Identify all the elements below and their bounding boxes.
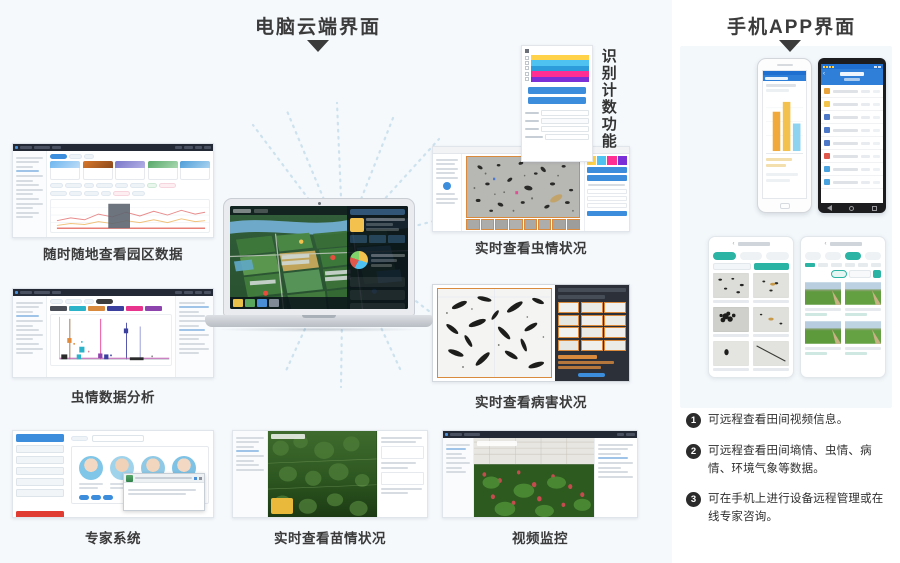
grid-item[interactable] xyxy=(753,273,789,303)
stats-button[interactable] xyxy=(587,175,627,181)
seedling-detail xyxy=(377,431,427,517)
count-input[interactable] xyxy=(545,134,589,140)
card-header: ‹ xyxy=(709,237,793,250)
list-item[interactable] xyxy=(821,150,883,163)
phone-mockup-white[interactable] xyxy=(757,58,812,213)
triangle-down-icon xyxy=(779,40,801,52)
chart-legend xyxy=(50,306,172,311)
statistics-chart-button[interactable] xyxy=(528,97,586,104)
screenshot-video-monitor[interactable] xyxy=(442,430,638,518)
dock-item[interactable] xyxy=(269,299,279,307)
back-chevron-icon[interactable]: ‹ xyxy=(824,241,826,247)
caption-pest-live: 实时查看虫情状况 xyxy=(432,237,630,257)
laptop-lid xyxy=(223,198,415,316)
list-item: 1 可远程查看田间视频信息。 xyxy=(686,412,894,430)
tab[interactable] xyxy=(805,263,815,267)
map-dock[interactable] xyxy=(230,297,347,309)
screenshot-park-data[interactable] xyxy=(12,143,214,238)
donut-chart xyxy=(350,251,368,269)
date-filter[interactable] xyxy=(713,263,751,270)
chat-avatar-icon xyxy=(126,475,133,482)
dashboard-sidebar[interactable] xyxy=(13,151,47,237)
expert-list xyxy=(67,431,213,517)
home-button[interactable] xyxy=(780,203,790,209)
list-item[interactable] xyxy=(821,176,883,189)
photo-badge xyxy=(271,498,293,514)
caption-seedling: 实时查看苗情状况 xyxy=(232,527,428,547)
android-navbar[interactable] xyxy=(818,203,886,213)
camera-list[interactable] xyxy=(594,438,637,517)
app-topbar xyxy=(13,289,213,296)
caption-video-monitor: 视频监控 xyxy=(442,527,638,547)
pest-thumbnail-strip[interactable] xyxy=(466,219,580,230)
date-picker[interactable] xyxy=(849,270,871,278)
grid-item[interactable] xyxy=(845,320,881,355)
list-item-text: 可远程查看田间视频信息。 xyxy=(708,412,848,430)
tab[interactable] xyxy=(818,263,828,267)
range-chip[interactable] xyxy=(831,270,847,278)
seedling-sidebar[interactable] xyxy=(233,431,268,517)
list-item: 3 可在手机上进行设备远程管理或在线专家咨询。 xyxy=(686,491,894,527)
back-chevron-icon[interactable]: ‹ xyxy=(823,71,825,77)
map-toolbar[interactable] xyxy=(230,206,347,215)
date-range-row[interactable] xyxy=(801,270,885,281)
grid-item[interactable] xyxy=(753,341,789,371)
back-chevron-icon[interactable]: ‹ xyxy=(732,241,734,247)
expert-menu-item[interactable] xyxy=(16,467,64,475)
close-icon[interactable] xyxy=(199,477,202,480)
list-item[interactable] xyxy=(821,98,883,111)
sensor-list[interactable] xyxy=(821,85,883,189)
recents-square-icon[interactable] xyxy=(872,206,877,211)
bar-chart xyxy=(766,96,803,154)
minimize-icon[interactable] xyxy=(194,477,197,480)
submit-button[interactable] xyxy=(587,211,627,216)
list-item-text: 可远程查看田间墒情、虫情、病情、环境气象等数据。 xyxy=(708,443,894,479)
expert-menu[interactable] xyxy=(13,431,67,517)
list-number-badge: 2 xyxy=(686,444,701,459)
app-title xyxy=(840,72,865,76)
chat-window[interactable] xyxy=(123,473,205,511)
dashboard-content xyxy=(47,151,213,237)
webcam-icon xyxy=(318,202,321,205)
dock-item[interactable] xyxy=(245,299,255,307)
list-item: 2 可远程查看田间墒情、虫情、病情、环境气象等数据。 xyxy=(686,443,894,479)
poster-root: 电脑云端界面 手机APP界面 xyxy=(0,0,900,563)
list-item[interactable] xyxy=(821,137,883,150)
screenshot-pest-analysis[interactable] xyxy=(12,288,214,378)
category-pills[interactable] xyxy=(801,250,885,263)
disease-confirm-button[interactable] xyxy=(578,373,605,377)
screenshot-disease-live[interactable] xyxy=(432,284,630,382)
screenshot-expert-system[interactable] xyxy=(12,430,214,518)
photo-label xyxy=(271,434,305,439)
date-input[interactable] xyxy=(541,110,589,116)
phone-card-pest-timeline[interactable]: ‹ xyxy=(708,236,794,378)
map-info-panel[interactable] xyxy=(347,206,408,309)
pill-option[interactable] xyxy=(805,252,821,260)
dock-item[interactable] xyxy=(257,299,267,307)
triangle-down-icon xyxy=(307,40,329,52)
back-triangle-icon[interactable] xyxy=(827,205,832,211)
analysis-sidebar[interactable] xyxy=(13,296,47,377)
seedling-thumb-grid[interactable] xyxy=(801,281,885,359)
pest-tools-panel[interactable] xyxy=(433,154,462,231)
caption-park-data: 随时随地查看园区数据 xyxy=(12,243,214,263)
panel-title xyxy=(350,209,405,215)
phone-card-seedling[interactable]: ‹ xyxy=(800,236,886,378)
pill-option[interactable] xyxy=(766,252,789,260)
grid-item[interactable] xyxy=(805,320,841,355)
video-sidebar[interactable] xyxy=(443,438,474,517)
pest-result-panel xyxy=(584,154,629,231)
panel-menu-icon[interactable] xyxy=(525,49,529,53)
card-header: ‹ xyxy=(801,237,885,250)
weather-card-row xyxy=(50,161,210,180)
filter-row[interactable] xyxy=(709,263,793,273)
tab[interactable] xyxy=(845,263,855,267)
disease-thumb-grid[interactable] xyxy=(558,302,626,351)
page-title-app: 手机APP界面 xyxy=(727,12,856,39)
laptop-shadow xyxy=(215,327,423,332)
disease-microscope-image xyxy=(437,288,552,378)
analysis-content xyxy=(47,296,175,377)
list-item[interactable] xyxy=(821,124,883,137)
counting-feature-label: 识别计数功能 xyxy=(598,48,617,160)
pest-scatter-chart xyxy=(50,314,172,366)
grid-item[interactable] xyxy=(713,273,749,303)
pill-option[interactable] xyxy=(865,252,881,260)
screenshot-seedling[interactable] xyxy=(232,430,428,518)
caption-disease-live: 实时查看病害状况 xyxy=(432,391,630,411)
grid-item[interactable] xyxy=(713,341,749,371)
caption-expert-system: 专家系统 xyxy=(12,527,214,547)
plot-select[interactable] xyxy=(541,118,589,124)
toolbar-logo xyxy=(233,209,251,213)
pill-option[interactable] xyxy=(825,252,841,260)
detect-result-button[interactable] xyxy=(528,87,586,94)
list-item[interactable] xyxy=(821,85,883,98)
tabs-row[interactable] xyxy=(801,263,885,270)
phone-white-screen[interactable] xyxy=(762,70,807,199)
grid-item[interactable] xyxy=(805,281,841,316)
tab[interactable] xyxy=(831,263,841,267)
expert-menu-item[interactable] xyxy=(16,489,64,497)
dock-item[interactable] xyxy=(233,299,243,307)
laptop-mockup xyxy=(205,198,433,340)
device-select[interactable] xyxy=(541,126,589,132)
grid-item[interactable] xyxy=(753,307,789,337)
seedling-photo xyxy=(268,431,377,517)
app-topbar xyxy=(13,144,213,151)
detect-button[interactable] xyxy=(587,167,627,173)
list-number-badge: 1 xyxy=(686,413,701,428)
feature-list: 1 可远程查看田间视频信息。 2 可远程查看田间墒情、虫情、病情、环境气象等数据… xyxy=(686,412,894,540)
camera-label xyxy=(477,441,517,446)
home-circle-icon[interactable] xyxy=(849,206,854,211)
calendar-icon[interactable] xyxy=(873,270,881,278)
category-filter[interactable] xyxy=(754,263,789,270)
view-mode-pills[interactable] xyxy=(709,250,793,263)
video-feed xyxy=(474,438,594,517)
grid-item[interactable] xyxy=(845,281,881,316)
expert-menu-item[interactable] xyxy=(16,456,64,464)
speaker-grille-icon xyxy=(777,64,793,66)
grid-item[interactable] xyxy=(713,307,749,337)
expert-menu-item[interactable] xyxy=(16,445,64,453)
laptop-screen[interactable] xyxy=(230,206,408,309)
page-title-pc: 电脑云端界面 xyxy=(255,12,381,39)
pest-trap-image xyxy=(466,156,580,218)
disease-analysis-panel xyxy=(555,285,629,381)
phone-mockup-dark[interactable]: ‹ xyxy=(818,58,886,213)
app-subtitle xyxy=(844,78,860,81)
pill-option[interactable] xyxy=(845,252,861,260)
avatar[interactable] xyxy=(79,456,103,489)
laptop-base xyxy=(205,315,433,327)
list-number-badge: 3 xyxy=(686,492,701,507)
tab[interactable] xyxy=(858,263,868,267)
phone-dark-screen[interactable]: ‹ xyxy=(821,64,883,203)
list-item[interactable] xyxy=(821,111,883,124)
expert-menu-item[interactable] xyxy=(16,478,64,486)
pill-option[interactable] xyxy=(740,252,763,260)
pill-option[interactable] xyxy=(713,252,736,260)
caption-pest-analysis: 虫情数据分析 xyxy=(12,386,214,406)
recognition-count-table xyxy=(525,55,589,82)
app-topbar xyxy=(443,431,637,438)
emergency-consult-button[interactable] xyxy=(16,511,64,518)
list-item-text: 可在手机上进行设备远程管理或在线专家咨询。 xyxy=(708,491,894,527)
crop-thumb xyxy=(350,218,364,232)
app-header: ‹ xyxy=(821,69,883,85)
tab[interactable] xyxy=(871,263,881,267)
expert-filter-select[interactable] xyxy=(92,435,144,442)
screenshot-counting-panel[interactable] xyxy=(521,45,593,162)
list-item[interactable] xyxy=(821,163,883,176)
expert-menu-item[interactable] xyxy=(16,434,64,442)
trend-line-chart xyxy=(50,199,210,233)
pest-thumb-grid[interactable] xyxy=(709,273,793,375)
